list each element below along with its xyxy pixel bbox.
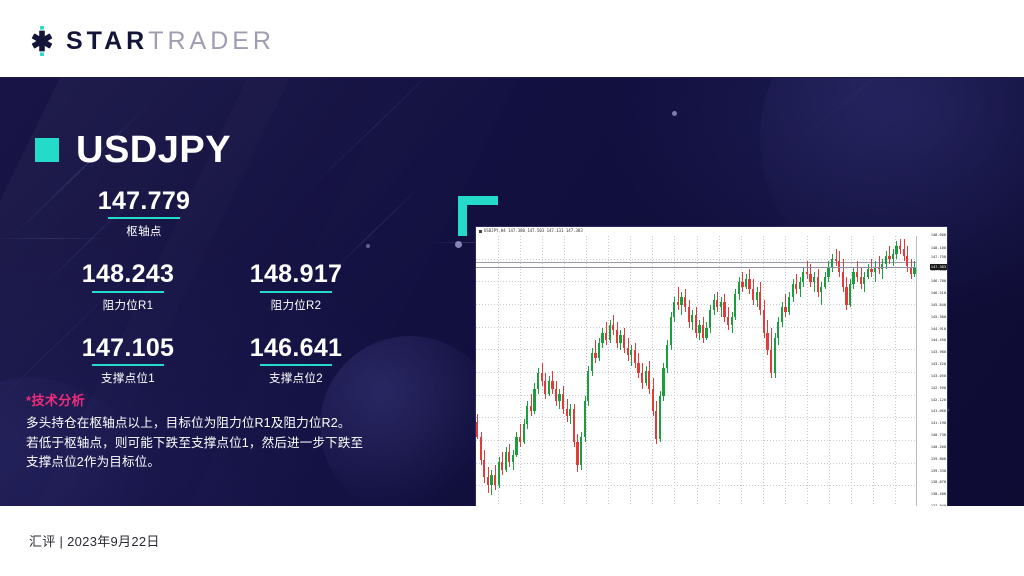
candlestick <box>713 236 715 506</box>
level-support-1: 147.105 支撑点位1 <box>49 335 207 386</box>
price-axis-tick: 143.050 <box>931 375 946 379</box>
slide-root: STARTRADER <box>0 0 1024 576</box>
price-axis-tick: 148.100 <box>931 247 946 251</box>
price-axis-tick: 141.660 <box>931 410 946 414</box>
candlestick <box>824 236 826 506</box>
candlestick <box>892 236 894 506</box>
pivot-caption: 枢轴点 <box>49 223 239 239</box>
support-1-caption: 支撑点位1 <box>49 370 207 386</box>
analysis-body: 多头持仓在枢轴点以上，目标位为阻力位R1及阻力位R2。 若低于枢轴点，则可能下跌… <box>26 414 398 473</box>
candlestick <box>702 236 704 506</box>
candlestick <box>512 236 514 506</box>
support-2-underline <box>260 364 332 366</box>
candlestick <box>802 236 804 506</box>
candlestick <box>666 236 668 506</box>
candlestick <box>652 236 654 506</box>
price-axis-tick: 139.330 <box>931 470 946 474</box>
technical-analysis-block: *技术分析 多头持仓在枢轴点以上，目标位为阻力位R1及阻力位R2。 若低于枢轴点… <box>26 390 398 473</box>
candlestick <box>645 236 647 506</box>
candlestick <box>634 236 636 506</box>
resistance-2-underline <box>260 291 332 293</box>
pivot-row: 147.779 枢轴点 <box>35 188 415 239</box>
candlestick <box>741 236 743 506</box>
level-resistance-1: 148.243 阻力位R1 <box>49 261 207 312</box>
level-pivot: 147.779 枢轴点 <box>49 188 239 239</box>
candlestick <box>533 236 535 506</box>
support-2-value: 146.641 <box>217 335 375 361</box>
price-axis-tick: 148.600 <box>931 234 946 238</box>
brand-name-bold: STAR <box>66 27 148 55</box>
price-axis-tick: 140.730 <box>931 434 946 438</box>
candlestick <box>623 236 625 506</box>
pivot-value: 147.779 <box>49 188 239 214</box>
candlestick <box>569 236 571 506</box>
candlestick <box>695 236 697 506</box>
candlestick <box>609 236 611 506</box>
candlestick <box>555 236 557 506</box>
candlestick <box>763 236 765 506</box>
candlestick <box>770 236 772 506</box>
price-axis-tick: 139.800 <box>931 458 946 462</box>
analysis-line-2: 若低于枢轴点，则可能下跌至支撑点位1，然后进一步下跌至 <box>26 434 398 454</box>
candlestick <box>817 236 819 506</box>
candlestick <box>659 236 661 506</box>
candlestick <box>910 236 912 506</box>
candlestick <box>648 236 650 506</box>
candlestick <box>788 236 790 506</box>
candlestick <box>508 236 510 506</box>
price-axis-tick: 144.450 <box>931 339 946 343</box>
candlestick <box>505 236 507 506</box>
candlestick <box>867 236 869 506</box>
candlestick <box>616 236 618 506</box>
candlestick <box>562 236 564 506</box>
candlestick <box>838 236 840 506</box>
candlestick <box>716 236 718 506</box>
price-axis: 148.600148.100147.750147.240146.780146.3… <box>916 236 947 506</box>
candlestick <box>809 236 811 506</box>
candlestick <box>601 236 603 506</box>
resistance-row: 148.243 阻力位R1 148.917 阻力位R2 <box>35 261 415 312</box>
candlestick <box>845 236 847 506</box>
candlestick <box>641 236 643 506</box>
analysis-heading: *技术分析 <box>26 390 398 409</box>
candlestick <box>878 236 880 506</box>
candlestick <box>895 236 897 506</box>
candlestick <box>619 236 621 506</box>
candlestick <box>490 236 492 506</box>
candlestick <box>673 236 675 506</box>
price-axis-tick: 144.910 <box>931 328 946 332</box>
instrument-title: USDJPY <box>35 131 231 169</box>
candlestick <box>784 236 786 506</box>
candlestick <box>627 236 629 506</box>
chart-plot-area <box>476 236 917 506</box>
candlestick <box>799 236 801 506</box>
price-axis-tick: 143.980 <box>931 351 946 355</box>
support-1-underline <box>92 364 164 366</box>
candlestick <box>580 236 582 506</box>
resistance-2-caption: 阻力位R2 <box>217 297 375 313</box>
candlestick <box>483 236 485 506</box>
candlestick <box>774 236 776 506</box>
candlestick <box>487 236 489 506</box>
candlestick <box>795 236 797 506</box>
instrument-marker-icon <box>35 138 59 162</box>
candlestick <box>498 236 500 506</box>
decorative-dot <box>672 111 677 116</box>
candlestick <box>551 236 553 506</box>
header-bar: STARTRADER <box>0 0 1024 78</box>
candlestick <box>677 236 679 506</box>
candlestick <box>476 236 478 506</box>
candlestick <box>863 236 865 506</box>
pivot-underline <box>108 217 180 219</box>
candlestick <box>831 236 833 506</box>
footer-caption: 汇评 | 2023年9月22日 <box>29 531 160 550</box>
candlestick <box>852 236 854 506</box>
candlestick <box>591 236 593 506</box>
candlestick <box>548 236 550 506</box>
candlestick <box>480 236 482 506</box>
candlestick <box>849 236 851 506</box>
support-1-value: 147.105 <box>49 335 207 361</box>
price-axis-tick: 141.190 <box>931 422 946 426</box>
candlestick <box>544 236 546 506</box>
candlestick <box>738 236 740 506</box>
candlestick <box>705 236 707 506</box>
price-axis-tick: 138.870 <box>931 481 946 485</box>
candlestick <box>903 236 905 506</box>
candlestick <box>655 236 657 506</box>
candlestick <box>748 236 750 506</box>
candlestick <box>501 236 503 506</box>
price-axis-tick: 146.310 <box>931 292 946 296</box>
candlestick <box>688 236 690 506</box>
candlestick <box>881 236 883 506</box>
resistance-2-value: 148.917 <box>217 261 375 287</box>
analysis-line-1: 多头持仓在枢轴点以上，目标位为阻力位R1及阻力位R2。 <box>26 414 398 434</box>
candlestick <box>734 236 736 506</box>
candlestick <box>566 236 568 506</box>
candlestick <box>745 236 747 506</box>
candlestick <box>759 236 761 506</box>
candlestick <box>526 236 528 506</box>
candlestick <box>494 236 496 506</box>
candlestick <box>573 236 575 506</box>
candlestick <box>842 236 844 506</box>
brand-logo: STARTRADER <box>27 25 275 57</box>
price-axis-tick: 142.590 <box>931 387 946 391</box>
candlestick <box>698 236 700 506</box>
candlestick <box>612 236 614 506</box>
candlestick <box>519 236 521 506</box>
price-chart[interactable]: USDJPY,H4 147.380 147.503 147.131 147.38… <box>475 226 948 506</box>
candlestick <box>899 236 901 506</box>
resistance-1-underline <box>92 291 164 293</box>
level-support-2: 146.641 支撑点位2 <box>217 335 375 386</box>
candlestick <box>515 236 517 506</box>
candlestick <box>576 236 578 506</box>
candlestick <box>691 236 693 506</box>
candlestick <box>888 236 890 506</box>
support-row: 147.105 支撑点位1 146.641 支撑点位2 <box>35 335 415 386</box>
current-price-line <box>476 267 917 268</box>
candlestick <box>856 236 858 506</box>
price-axis-tick: 145.380 <box>931 316 946 320</box>
candlestick <box>835 236 837 506</box>
candlestick <box>885 236 887 506</box>
candlestick <box>558 236 560 506</box>
price-axis-tick: 147.750 <box>931 256 946 260</box>
candlestick <box>813 236 815 506</box>
candlestick <box>594 236 596 506</box>
price-axis-tick: 143.520 <box>931 363 946 367</box>
candlestick <box>870 236 872 506</box>
candlestick <box>806 236 808 506</box>
analysis-line-3: 支撑点位2作为目标位。 <box>26 453 398 473</box>
brand-name-light: TRADER <box>148 27 275 55</box>
price-axis-tick: 145.840 <box>931 304 946 308</box>
candlestick <box>723 236 725 506</box>
level-resistance-2: 148.917 阻力位R2 <box>217 261 375 312</box>
candlestick <box>874 236 876 506</box>
candlestick <box>680 236 682 506</box>
candlestick <box>541 236 543 506</box>
candlestick-series <box>476 236 917 506</box>
candlestick <box>827 236 829 506</box>
candlestick <box>584 236 586 506</box>
chart-title-bullet-icon <box>479 230 482 233</box>
decorative-dot <box>455 241 462 248</box>
candlestick <box>781 236 783 506</box>
candlestick <box>792 236 794 506</box>
candlestick <box>709 236 711 506</box>
price-axis-tick: 140.260 <box>931 446 946 450</box>
candlestick <box>637 236 639 506</box>
candlestick <box>630 236 632 506</box>
candlestick <box>820 236 822 506</box>
resistance-1-value: 148.243 <box>49 261 207 287</box>
main-panel: USDJPY 147.779 枢轴点 148.243 阻力位R1 148.91 <box>0 78 1024 506</box>
brand-name: STARTRADER <box>66 29 275 54</box>
instrument-symbol: USDJPY <box>76 131 231 169</box>
price-axis-tick: 146.780 <box>931 280 946 284</box>
candlestick <box>523 236 525 506</box>
candlestick <box>605 236 607 506</box>
candlestick <box>662 236 664 506</box>
current-price-label: 147.383 <box>930 264 947 270</box>
candlestick <box>727 236 729 506</box>
candlestick <box>756 236 758 506</box>
candlestick <box>860 236 862 506</box>
candlestick <box>537 236 539 506</box>
footer-bar: 汇评 | 2023年9月22日 <box>0 506 1024 576</box>
candlestick <box>906 236 908 506</box>
candlestick <box>720 236 722 506</box>
candlestick <box>766 236 768 506</box>
support-2-caption: 支撑点位2 <box>217 370 375 386</box>
resistance-1-caption: 阻力位R1 <box>49 297 207 313</box>
levels-block: 147.779 枢轴点 148.243 阻力位R1 148.917 阻力位R2 <box>35 188 415 386</box>
candlestick <box>530 236 532 506</box>
candlestick <box>731 236 733 506</box>
candlestick <box>684 236 686 506</box>
chart-title-text: USDJPY,H4 147.380 147.503 147.131 147.38… <box>484 228 583 233</box>
asterisk-star-icon <box>27 26 57 56</box>
price-axis-tick: 138.400 <box>931 493 946 497</box>
candlestick <box>598 236 600 506</box>
candlestick <box>752 236 754 506</box>
candlestick <box>587 236 589 506</box>
candlestick <box>777 236 779 506</box>
price-axis-tick: 142.120 <box>931 399 946 403</box>
candlestick <box>670 236 672 506</box>
